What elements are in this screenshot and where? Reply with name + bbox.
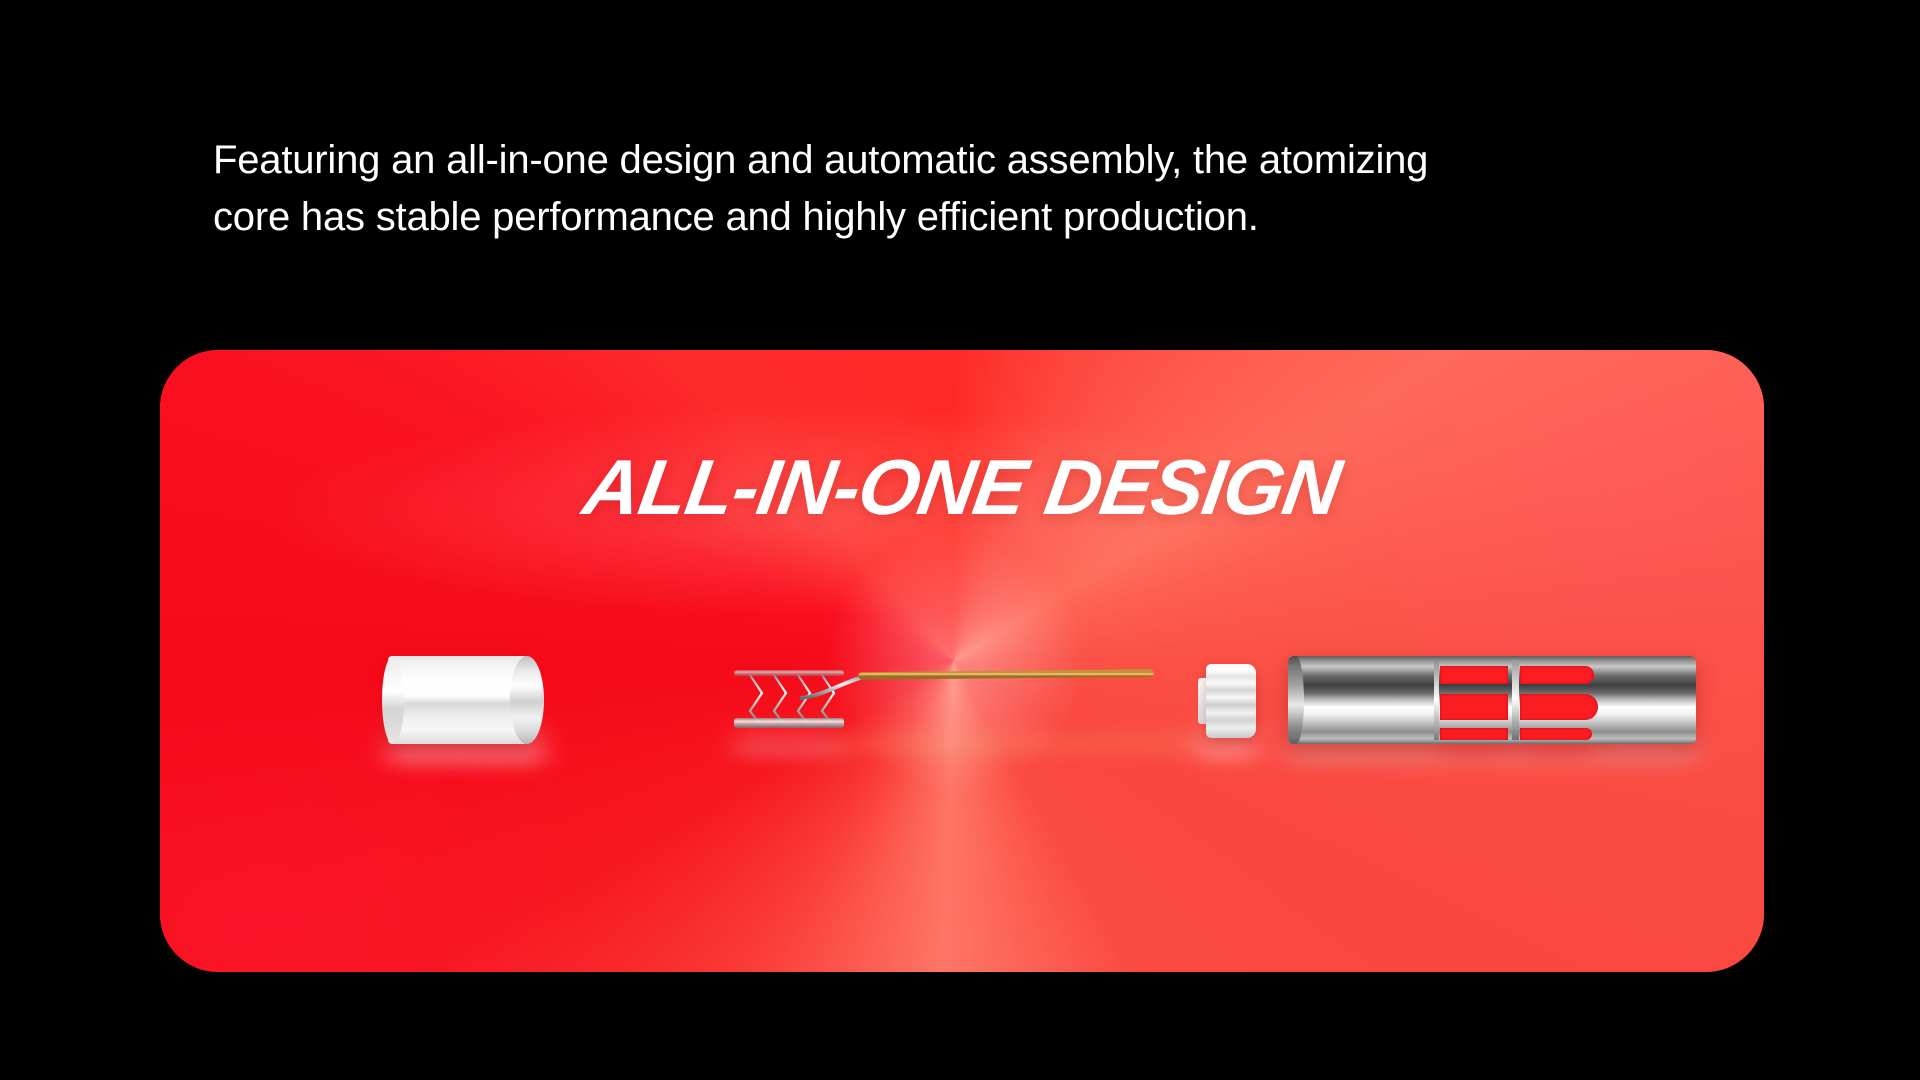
part-gold-leads xyxy=(800,654,1210,746)
intro-paragraph: Featuring an all-in-one design and autom… xyxy=(213,132,1673,246)
ceramic-sleeve-body xyxy=(388,656,528,744)
housing-window xyxy=(1520,728,1592,740)
exploded-parts-row xyxy=(160,642,1764,762)
hero-card: ALL-IN-ONE DESIGN xyxy=(160,350,1764,972)
housing-rib xyxy=(1434,660,1439,740)
part-chrome-housing xyxy=(1288,656,1696,744)
part-fluted-plug xyxy=(1198,664,1256,738)
housing-window xyxy=(1520,666,1594,684)
fluted-plug-body xyxy=(1206,664,1256,738)
chrome-housing-left-rim xyxy=(1288,656,1304,744)
chrome-housing-body xyxy=(1288,656,1696,744)
gold-lead-wires-icon xyxy=(800,654,1210,746)
housing-window xyxy=(1440,666,1508,684)
housing-window xyxy=(1520,694,1598,720)
ceramic-sleeve-right-rim xyxy=(510,656,544,744)
part-ceramic-sleeve xyxy=(388,656,544,744)
housing-window xyxy=(1440,728,1508,740)
hero-headline: ALL-IN-ONE DESIGN xyxy=(160,448,1764,526)
ceramic-sleeve-left-rim xyxy=(382,656,404,744)
slide-root: Featuring an all-in-one design and autom… xyxy=(0,0,1920,1080)
housing-rib xyxy=(1512,660,1519,740)
housing-window xyxy=(1440,694,1508,720)
